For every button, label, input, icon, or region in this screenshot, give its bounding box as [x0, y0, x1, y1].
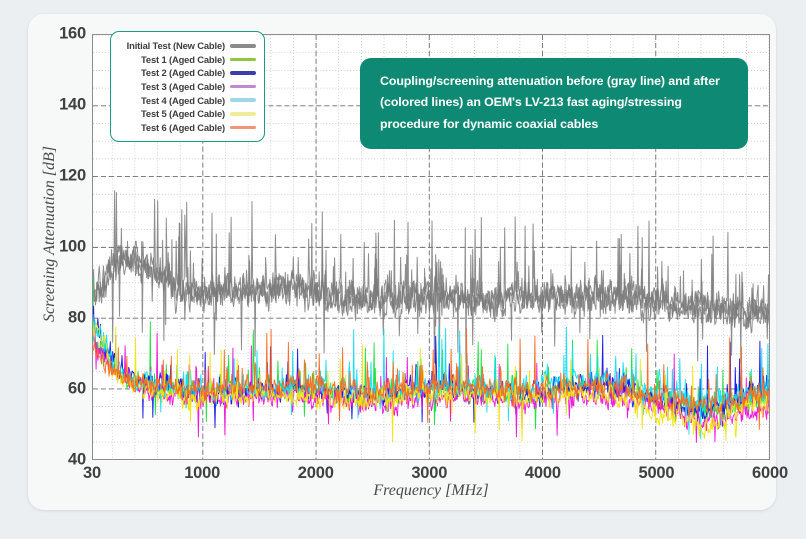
legend-item-label: Test 2 (Aged Cable): [141, 67, 225, 78]
x-tick-label: 5000: [638, 464, 674, 483]
legend-item: Test 4 (Aged Cable): [117, 93, 256, 107]
legend-color-swatch: [230, 85, 256, 89]
figure-root: 406080100120140160 301000200030004000500…: [0, 0, 806, 539]
legend-item-label: Test 4 (Aged Cable): [141, 95, 225, 106]
legend-color-swatch: [230, 98, 256, 102]
legend-color-swatch: [230, 112, 256, 116]
legend-color-swatch: [230, 71, 256, 75]
legend-item-label: Initial Test (New Cable): [127, 40, 225, 51]
legend-item-label: Test 3 (Aged Cable): [141, 81, 225, 92]
x-axis-label: Frequency [MHz]: [92, 482, 770, 500]
legend-item: Test 2 (Aged Cable): [117, 66, 256, 80]
legend-item: Initial Test (New Cable): [117, 39, 256, 53]
callout-box: Coupling/screening attenuation before (g…: [360, 58, 748, 149]
screening-attenuation-chart: 406080100120140160 301000200030004000500…: [0, 0, 806, 539]
x-tick-label: 2000: [298, 464, 334, 483]
x-tick-label: 6000: [752, 464, 788, 483]
legend-item-label: Test 1 (Aged Cable): [141, 54, 225, 65]
legend-color-swatch: [230, 58, 256, 62]
y-axis-label: Screening Attenuation [dB]: [41, 24, 59, 444]
legend-item-label: Test 6 (Aged Cable): [141, 122, 225, 133]
legend-item: Test 5 (Aged Cable): [117, 107, 256, 121]
legend-color-swatch: [230, 126, 256, 130]
x-tick-label: 1000: [184, 464, 220, 483]
x-tick-label: 4000: [525, 464, 561, 483]
legend-item: Test 6 (Aged Cable): [117, 121, 256, 135]
chart-legend: Initial Test (New Cable)Test 1 (Aged Cab…: [110, 31, 265, 142]
legend-item: Test 1 (Aged Cable): [117, 53, 256, 67]
legend-item: Test 3 (Aged Cable): [117, 80, 256, 94]
legend-item-label: Test 5 (Aged Cable): [141, 108, 225, 119]
x-tick-label: 30: [83, 464, 101, 483]
x-tick-label: 3000: [411, 464, 447, 483]
legend-color-swatch: [230, 44, 256, 48]
